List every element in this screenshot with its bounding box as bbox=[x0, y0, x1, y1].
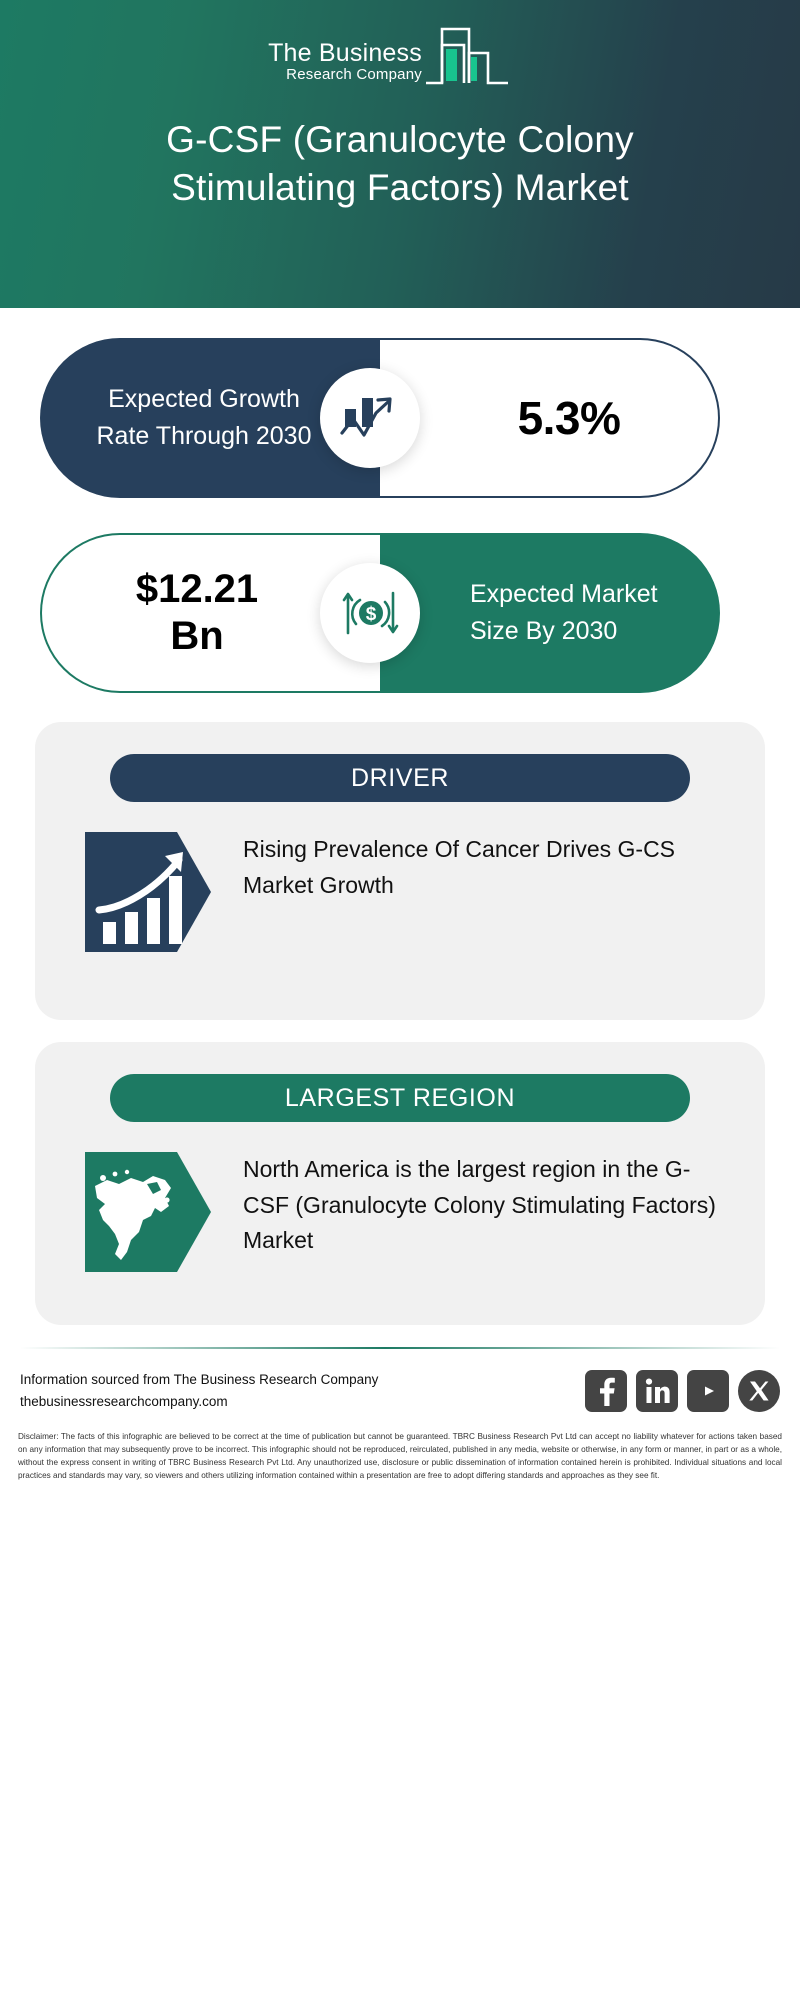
driver-text: Rising Prevalence Of Cancer Drives G-CS … bbox=[243, 828, 719, 903]
logo-line-2: Research Company bbox=[286, 66, 422, 84]
growth-rate-badge bbox=[320, 368, 420, 468]
disclaimer-text: Disclaimer: The facts of this infographi… bbox=[0, 1414, 800, 1483]
largest-region-pill: LARGEST REGION bbox=[110, 1074, 690, 1122]
market-size-label: Expected Market Size By 2030 bbox=[470, 576, 670, 650]
growth-rate-value: 5.3% bbox=[518, 391, 621, 445]
linkedin-glyph bbox=[644, 1377, 670, 1405]
bar-chart-growth-icon bbox=[339, 389, 401, 447]
growth-rate-value-panel: 5.3% bbox=[380, 338, 720, 498]
driver-body: Rising Prevalence Of Cancer Drives G-CS … bbox=[35, 802, 765, 956]
panel-driver: DRIVER Rising Prevalence Of Cancer Drive… bbox=[35, 722, 765, 1020]
north-america-map-icon bbox=[81, 1148, 221, 1276]
market-size-value-line1: $12.21 bbox=[136, 567, 258, 611]
market-size-label-panel: Expected Market Size By 2030 bbox=[380, 533, 720, 693]
driver-icon-shape bbox=[81, 828, 221, 956]
bar-chart-logo-icon bbox=[424, 23, 532, 87]
region-icon-shape bbox=[81, 1148, 221, 1276]
growth-rate-label: Expected Growth Rate Through 2030 bbox=[89, 381, 319, 455]
facebook-icon[interactable] bbox=[585, 1370, 627, 1412]
driver-pill: DRIVER bbox=[110, 754, 690, 802]
panel-largest-region: LARGEST REGION North America is the larg… bbox=[35, 1042, 765, 1325]
page-title: G-CSF (Granulocyte Colony Stimulating Fa… bbox=[80, 116, 720, 212]
youtube-icon[interactable] bbox=[687, 1370, 729, 1412]
x-glyph bbox=[747, 1379, 771, 1403]
logo-text: The Business Research Company bbox=[268, 40, 422, 84]
footer: Information sourced from The Business Re… bbox=[0, 1347, 800, 1483]
infographic-page: The Business Research Company G-CSF (Gra… bbox=[0, 0, 800, 2000]
footer-row: Information sourced from The Business Re… bbox=[0, 1349, 800, 1414]
stats-section: Expected Growth Rate Through 2030 5.3% $… bbox=[0, 308, 800, 722]
linkedin-icon[interactable] bbox=[636, 1370, 678, 1412]
company-logo: The Business Research Company bbox=[268, 22, 532, 88]
largest-region-text: North America is the largest region in t… bbox=[243, 1148, 719, 1259]
social-links bbox=[585, 1370, 780, 1412]
driver-pill-label: DRIVER bbox=[351, 764, 449, 793]
stat-card-growth-rate: Expected Growth Rate Through 2030 5.3% bbox=[0, 326, 800, 501]
market-size-value-line2: Bn bbox=[170, 614, 223, 658]
dollar-cycle-icon: $ bbox=[338, 583, 402, 643]
market-size-value: $12.21 Bn bbox=[107, 566, 287, 660]
stat-card-market-size: $12.21 Bn Expected Market Size By 2030 $ bbox=[0, 521, 800, 696]
growth-chart-arrow-icon bbox=[81, 828, 221, 956]
facebook-glyph bbox=[593, 1376, 619, 1406]
largest-region-body: North America is the largest region in t… bbox=[35, 1122, 765, 1276]
svg-text:$: $ bbox=[366, 604, 377, 625]
footer-source-line1: Information sourced from The Business Re… bbox=[20, 1369, 378, 1391]
footer-source: Information sourced from The Business Re… bbox=[20, 1369, 378, 1414]
x-twitter-icon[interactable] bbox=[738, 1370, 780, 1412]
market-size-badge: $ bbox=[320, 563, 420, 663]
header-banner: The Business Research Company G-CSF (Gra… bbox=[0, 0, 800, 308]
footer-source-line2[interactable]: thebusinessresearchcompany.com bbox=[20, 1391, 378, 1413]
largest-region-pill-label: LARGEST REGION bbox=[285, 1084, 515, 1113]
logo-line-1: The Business bbox=[268, 40, 422, 66]
youtube-glyph bbox=[694, 1381, 722, 1401]
